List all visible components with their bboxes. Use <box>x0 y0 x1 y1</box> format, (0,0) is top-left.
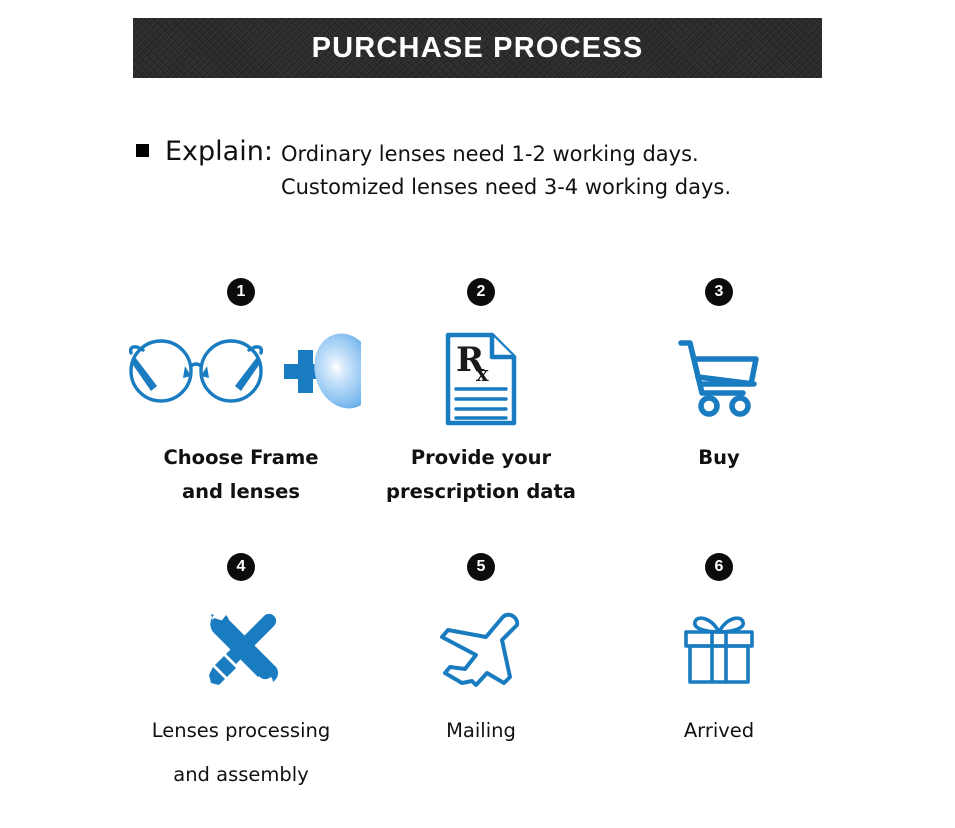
process-steps-row-2: 4 Lenses processing and assemb <box>0 553 955 828</box>
wrench-screwdriver-icon <box>111 601 371 701</box>
step-label-line-1: Buy <box>589 444 849 472</box>
step-label-line-1: Mailing <box>351 717 611 745</box>
explain-block: Explain: Ordinary lenses need 1-2 workin… <box>136 134 731 204</box>
step-number-badge: 5 <box>467 553 495 581</box>
process-step-arrived: 6 Arrived <box>589 553 849 761</box>
eyeglasses-plus-lens-icon <box>111 320 371 438</box>
explain-line-2: Customized lenses need 3-4 working days. <box>281 171 731 204</box>
purchase-process-banner: PURCHASE PROCESS <box>133 18 822 78</box>
prescription-document-icon: R x <box>351 320 611 438</box>
step-label-line-2: prescription data <box>351 478 611 506</box>
process-step-buy: 3 Buy <box>589 278 849 478</box>
gift-box-icon <box>589 601 849 701</box>
step-label-line-2: and lenses <box>111 478 371 506</box>
step-label-line-2: and assembly <box>111 761 371 789</box>
explain-lines: Ordinary lenses need 1-2 working days. C… <box>281 134 731 204</box>
step-number-badge: 4 <box>227 553 255 581</box>
process-step-mailing: 5 Mailing <box>351 553 611 761</box>
process-steps: 1 <box>0 278 955 828</box>
square-bullet-icon <box>136 144 149 157</box>
process-step-lenses-processing: 4 Lenses processing and assemb <box>111 553 371 789</box>
step-label-line-1: Provide your <box>351 444 611 472</box>
shopping-cart-icon <box>589 320 849 438</box>
svg-text:x: x <box>476 361 489 386</box>
page-title: PURCHASE PROCESS <box>312 32 644 65</box>
step-number-badge: 6 <box>705 553 733 581</box>
process-step-choose-frame: 1 <box>111 278 371 506</box>
process-step-provide-prescription: 2 R x Provide your prescription data <box>351 278 611 506</box>
step-label-line-1: Choose Frame <box>111 444 371 472</box>
step-label-line-1: Arrived <box>589 717 849 745</box>
process-steps-row-1: 1 <box>0 278 955 553</box>
step-number-badge: 3 <box>705 278 733 306</box>
step-number-badge: 1 <box>227 278 255 306</box>
airplane-icon <box>351 601 611 701</box>
explain-line-1: Ordinary lenses need 1-2 working days. <box>281 138 731 171</box>
step-number-badge: 2 <box>467 278 495 306</box>
explain-label: Explain: <box>165 134 273 170</box>
step-label-line-1: Lenses processing <box>111 717 371 745</box>
